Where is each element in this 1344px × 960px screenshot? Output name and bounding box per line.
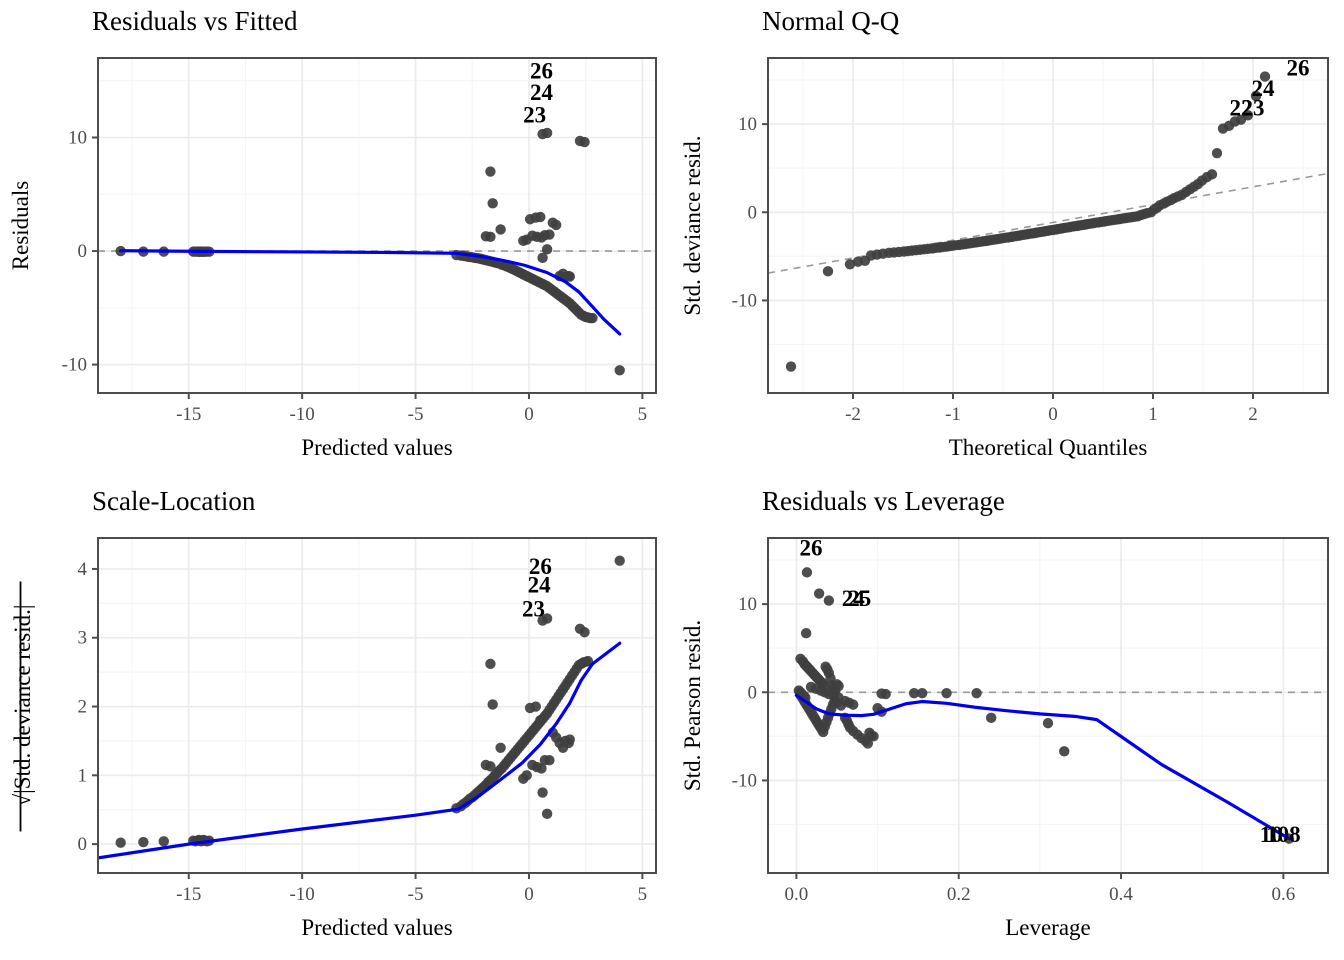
data-point <box>1273 0 1283 5</box>
point-label: 26 <box>800 536 823 561</box>
data-point <box>615 556 625 566</box>
x-tick-label: -15 <box>176 884 201 905</box>
data-point <box>848 699 858 709</box>
y-tick-label: 4 <box>78 559 88 580</box>
data-point <box>579 137 589 147</box>
y-axis-label-group: Std. Pearson resid. <box>680 620 705 791</box>
x-tick-label: -1 <box>945 404 961 425</box>
point-label: 23 <box>523 103 546 128</box>
panel-scale-location: Scale-Location262423-15-10-50501234Predi… <box>0 480 672 960</box>
data-point <box>544 755 554 765</box>
plot-scale-location: Scale-Location262423-15-10-50501234Predi… <box>0 480 672 960</box>
y-tick-label: 10 <box>68 127 87 148</box>
x-axis-label: Predicted values <box>301 915 452 940</box>
data-point <box>1212 148 1222 158</box>
data-point <box>481 760 491 770</box>
x-tick-label: 0.0 <box>785 884 809 905</box>
data-point <box>542 128 552 138</box>
y-tick-label: 3 <box>78 628 88 649</box>
y-tick-label: 2 <box>78 697 88 718</box>
plot-residuals-vs-leverage: Residuals vs Leverage262524108100.00.20.… <box>672 480 1344 960</box>
panel-title: Residuals vs Fitted <box>92 6 298 36</box>
data-point <box>537 787 547 797</box>
y-tick-label: 10 <box>738 114 757 135</box>
data-point <box>487 699 497 709</box>
data-point <box>115 838 125 848</box>
panel-background <box>98 538 656 873</box>
data-point <box>551 220 561 230</box>
y-tick-label: -10 <box>62 355 87 376</box>
panel-residuals-vs-leverage: Residuals vs Leverage262524108100.00.20.… <box>672 480 1344 960</box>
x-tick-label: -5 <box>408 404 424 425</box>
point-label: 26 <box>1287 56 1310 81</box>
x-tick-label: 0 <box>524 884 534 905</box>
data-point <box>542 809 552 819</box>
data-point <box>487 198 497 208</box>
plot-normal-qq: Normal Q-Q26242322-2-1012-10010Theoretic… <box>672 0 1344 480</box>
point-label: 24 <box>528 572 552 597</box>
data-point <box>495 224 505 234</box>
panel-title: Normal Q-Q <box>762 6 900 36</box>
data-point <box>1207 169 1217 179</box>
data-point <box>565 271 575 281</box>
y-tick-label: 0 <box>78 834 88 855</box>
y-axis-label-group: √|Std. deviance resid.| <box>10 582 35 832</box>
data-point <box>1059 746 1069 756</box>
y-axis-label-group: Residuals <box>8 181 33 270</box>
data-point <box>565 734 575 744</box>
y-axis-label-group: Std. deviance resid. <box>680 135 705 315</box>
data-point <box>544 229 554 239</box>
point-label: 24 <box>530 80 554 105</box>
panel-background <box>98 58 656 393</box>
data-point <box>941 688 951 698</box>
data-point <box>542 244 552 254</box>
y-tick-label: 0 <box>748 202 758 223</box>
data-point <box>917 688 927 698</box>
panel-title: Scale-Location <box>92 486 256 516</box>
data-point <box>802 567 812 577</box>
data-point <box>535 212 545 222</box>
data-point <box>833 681 843 691</box>
point-label: 24 <box>842 586 866 611</box>
x-tick-label: 1 <box>1148 404 1158 425</box>
panel-residuals-vs-fitted: Residuals vs Fitted262423-15-10-505-1001… <box>0 0 672 480</box>
data-point <box>535 715 545 725</box>
y-tick-label: -10 <box>732 290 757 311</box>
data-point <box>986 713 996 723</box>
point-label: 10 <box>1260 822 1283 847</box>
x-tick-label: 0.2 <box>947 884 971 905</box>
x-tick-label: 0 <box>1048 404 1058 425</box>
data-point <box>587 313 597 323</box>
data-point <box>615 365 625 375</box>
data-point <box>485 659 495 669</box>
data-point <box>824 595 834 605</box>
point-label: 23 <box>522 596 545 621</box>
data-point <box>159 836 169 846</box>
x-tick-label: -5 <box>408 884 424 905</box>
plot-residuals-vs-fitted: Residuals vs Fitted262423-15-10-505-1001… <box>0 0 672 480</box>
data-point <box>138 837 148 847</box>
panel-title: Residuals vs Leverage <box>762 486 1005 516</box>
x-tick-label: -10 <box>289 884 314 905</box>
x-tick-label: 2 <box>1248 404 1258 425</box>
x-tick-label: -10 <box>289 404 314 425</box>
y-tick-label: 1 <box>78 765 88 786</box>
x-tick-label: -2 <box>845 404 861 425</box>
data-point <box>868 731 878 741</box>
data-point <box>485 166 495 176</box>
y-tick-label: 10 <box>738 594 757 615</box>
y-tick-label: 0 <box>78 241 88 262</box>
diagnostic-plot-grid: Residuals vs Fitted262423-15-10-505-1001… <box>0 0 1344 960</box>
y-tick-label: -10 <box>732 770 757 791</box>
data-point <box>823 266 833 276</box>
data-point <box>971 688 981 698</box>
y-axis-label: Residuals <box>8 181 33 270</box>
x-tick-label: 5 <box>638 404 648 425</box>
x-tick-label: 0 <box>524 404 534 425</box>
x-tick-label: -15 <box>176 404 201 425</box>
data-point <box>876 688 886 698</box>
data-point <box>495 743 505 753</box>
data-point <box>522 770 532 780</box>
data-point <box>1293 0 1303 5</box>
y-axis-label: Std. deviance resid. <box>680 135 705 315</box>
data-point <box>579 627 589 637</box>
data-point <box>786 361 796 371</box>
data-point <box>814 588 824 598</box>
y-axis-label: Std. Pearson resid. <box>680 620 705 791</box>
data-point <box>481 231 491 241</box>
x-tick-label: 5 <box>638 884 648 905</box>
data-point <box>531 701 541 711</box>
data-point <box>1043 718 1053 728</box>
panel-normal-qq: Normal Q-Q26242322-2-1012-10010Theoretic… <box>672 0 1344 480</box>
y-tick-label: 0 <box>748 682 758 703</box>
x-tick-label: 0.4 <box>1109 884 1133 905</box>
x-tick-label: 0.6 <box>1271 884 1295 905</box>
y-axis-label: √|Std. deviance resid.| <box>10 605 35 807</box>
x-axis-label: Leverage <box>1005 915 1091 940</box>
data-point <box>801 628 811 638</box>
x-axis-label: Predicted values <box>301 435 452 460</box>
point-label: 22 <box>1230 95 1253 120</box>
data-point <box>833 692 843 702</box>
x-axis-label: Theoretical Quantiles <box>949 435 1148 460</box>
